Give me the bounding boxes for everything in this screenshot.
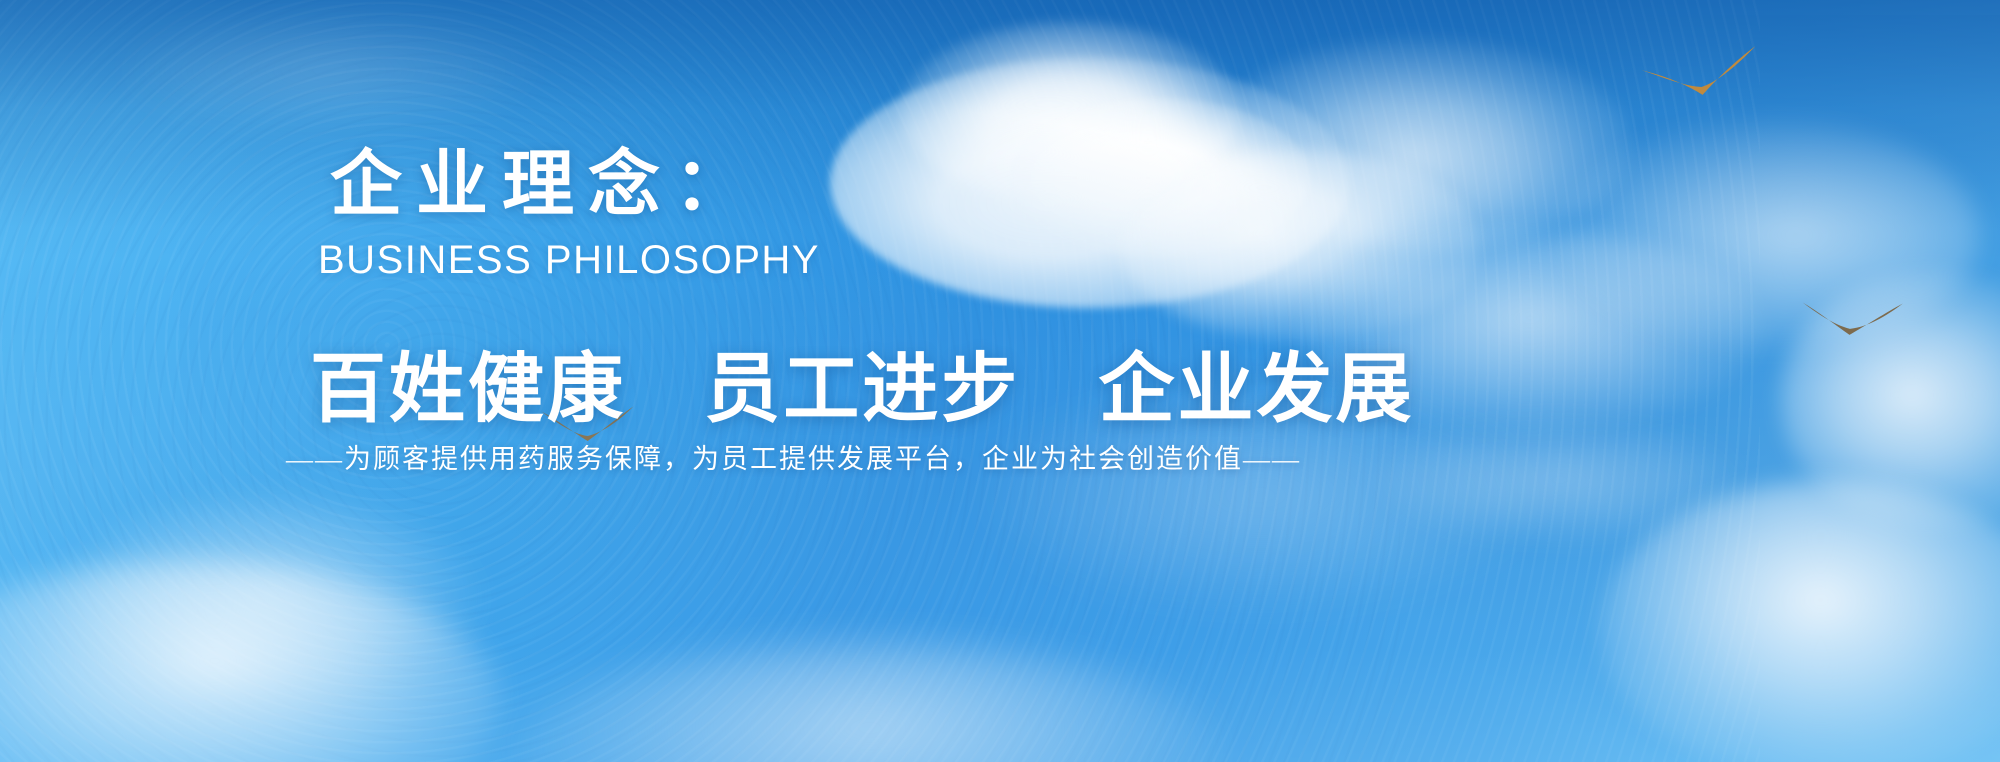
page-title-chinese: 企业理念： [330,148,760,223]
banner-text-block: 企业理念： BUSINESS PHILOSOPHY 百姓健康 员工进步 企业发展… [0,0,1000,762]
tagline-text: ——为顾客提供用药服务保障，为员工提供发展平台，企业为社会创造价值—— [286,437,1301,476]
page-title-english: BUSINESS PHILOSOPHY [318,238,820,283]
business-philosophy-banner: 企业理念： BUSINESS PHILOSOPHY 百姓健康 员工进步 企业发展… [0,0,2000,762]
slogan-part-1: 百姓健康 [310,347,626,432]
slogan-line: 百姓健康 员工进步 企业发展 [310,327,1415,437]
slogan-part-2: 员工进步 [704,347,1020,432]
slogan-part-3: 企业发展 [1099,347,1415,432]
